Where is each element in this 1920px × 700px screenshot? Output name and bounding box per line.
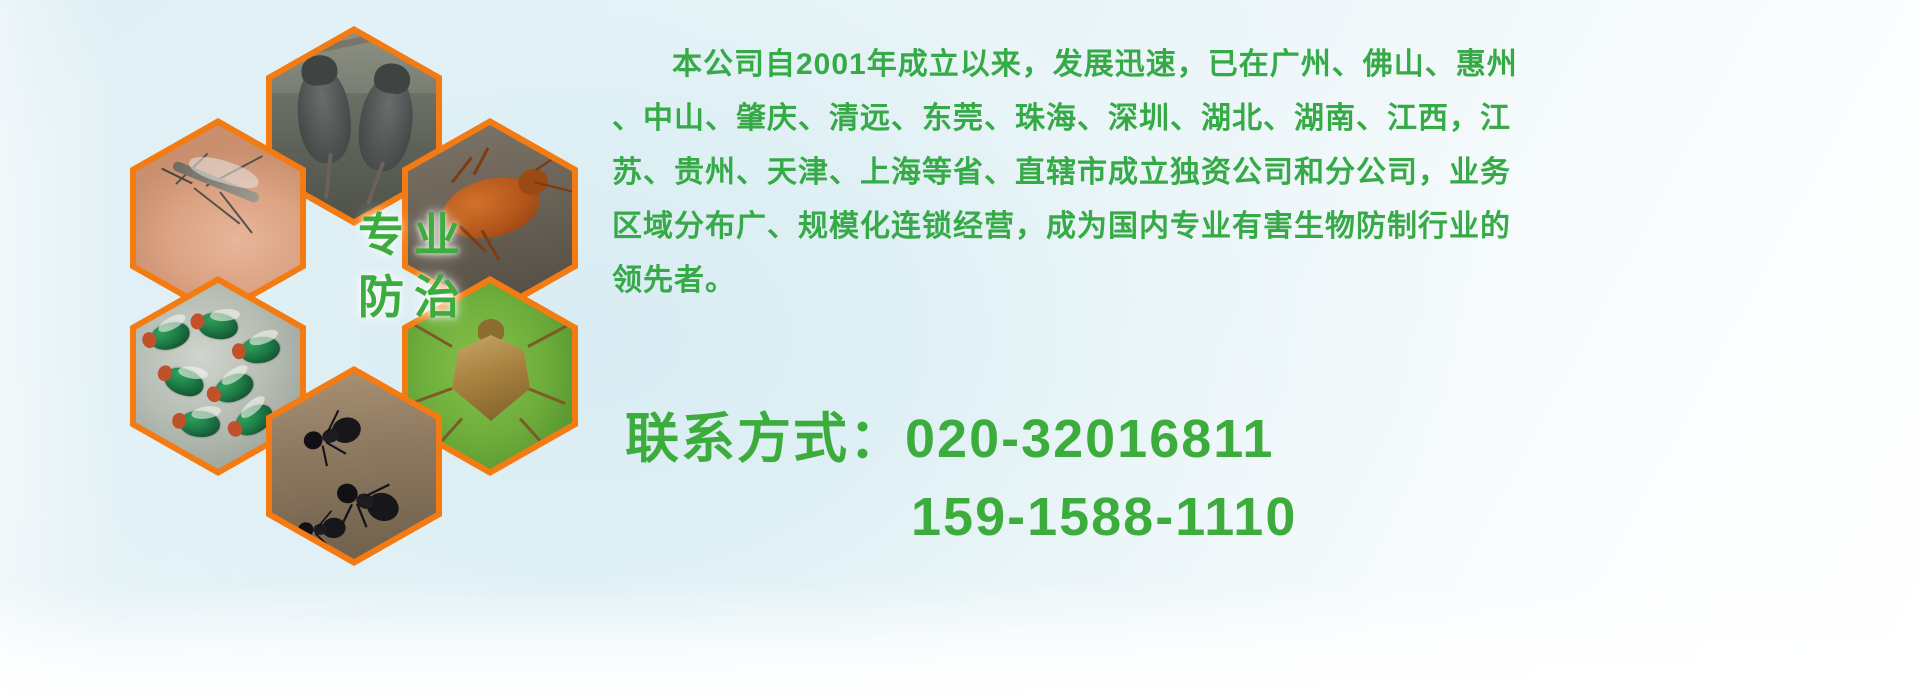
hexagon-photo-cluster: 专业 防治 [90,8,590,568]
intro-line-4: 区域分布广、规模化连锁经营，成为国内专业有害生物防制行业的 [612,200,1912,254]
intro-line-2: 、中山、肇庆、清远、东莞、珠海、深圳、湖北、湖南、江西，江 [612,92,1912,146]
intro-line-1: 本公司自2001年成立以来，发展迅速，已在广州、佛山、惠州 [612,38,1912,92]
headline-line-1: 专业 [334,204,494,266]
ants-illustration [272,373,436,559]
company-intro-text: 本公司自2001年成立以来，发展迅速，已在广州、佛山、惠州 、中山、肇庆、清远、… [612,38,1912,308]
hex-cell-ants-image [272,373,436,559]
intro-line-5: 领先者。 [612,254,1912,308]
contact-secondary-phone[interactable]: 159-1588-1110 [911,478,1297,556]
promo-banner: 专业 防治 本公司自2001年成立以来，发展迅速，已在广州、佛山、惠州 、中山、… [0,0,1920,700]
contact-primary-phone[interactable]: 联系方式：020-32016811 [625,400,1297,478]
headline-line-2: 防治 [334,266,494,328]
hex-cluster-headline: 专业 防治 [334,204,494,328]
intro-line-3: 苏、贵州、天津、上海等省、直辖市成立独资公司和分公司，业务 [612,146,1912,200]
contact-block: 联系方式：020-32016811 159-1588-1110 [625,400,1297,556]
